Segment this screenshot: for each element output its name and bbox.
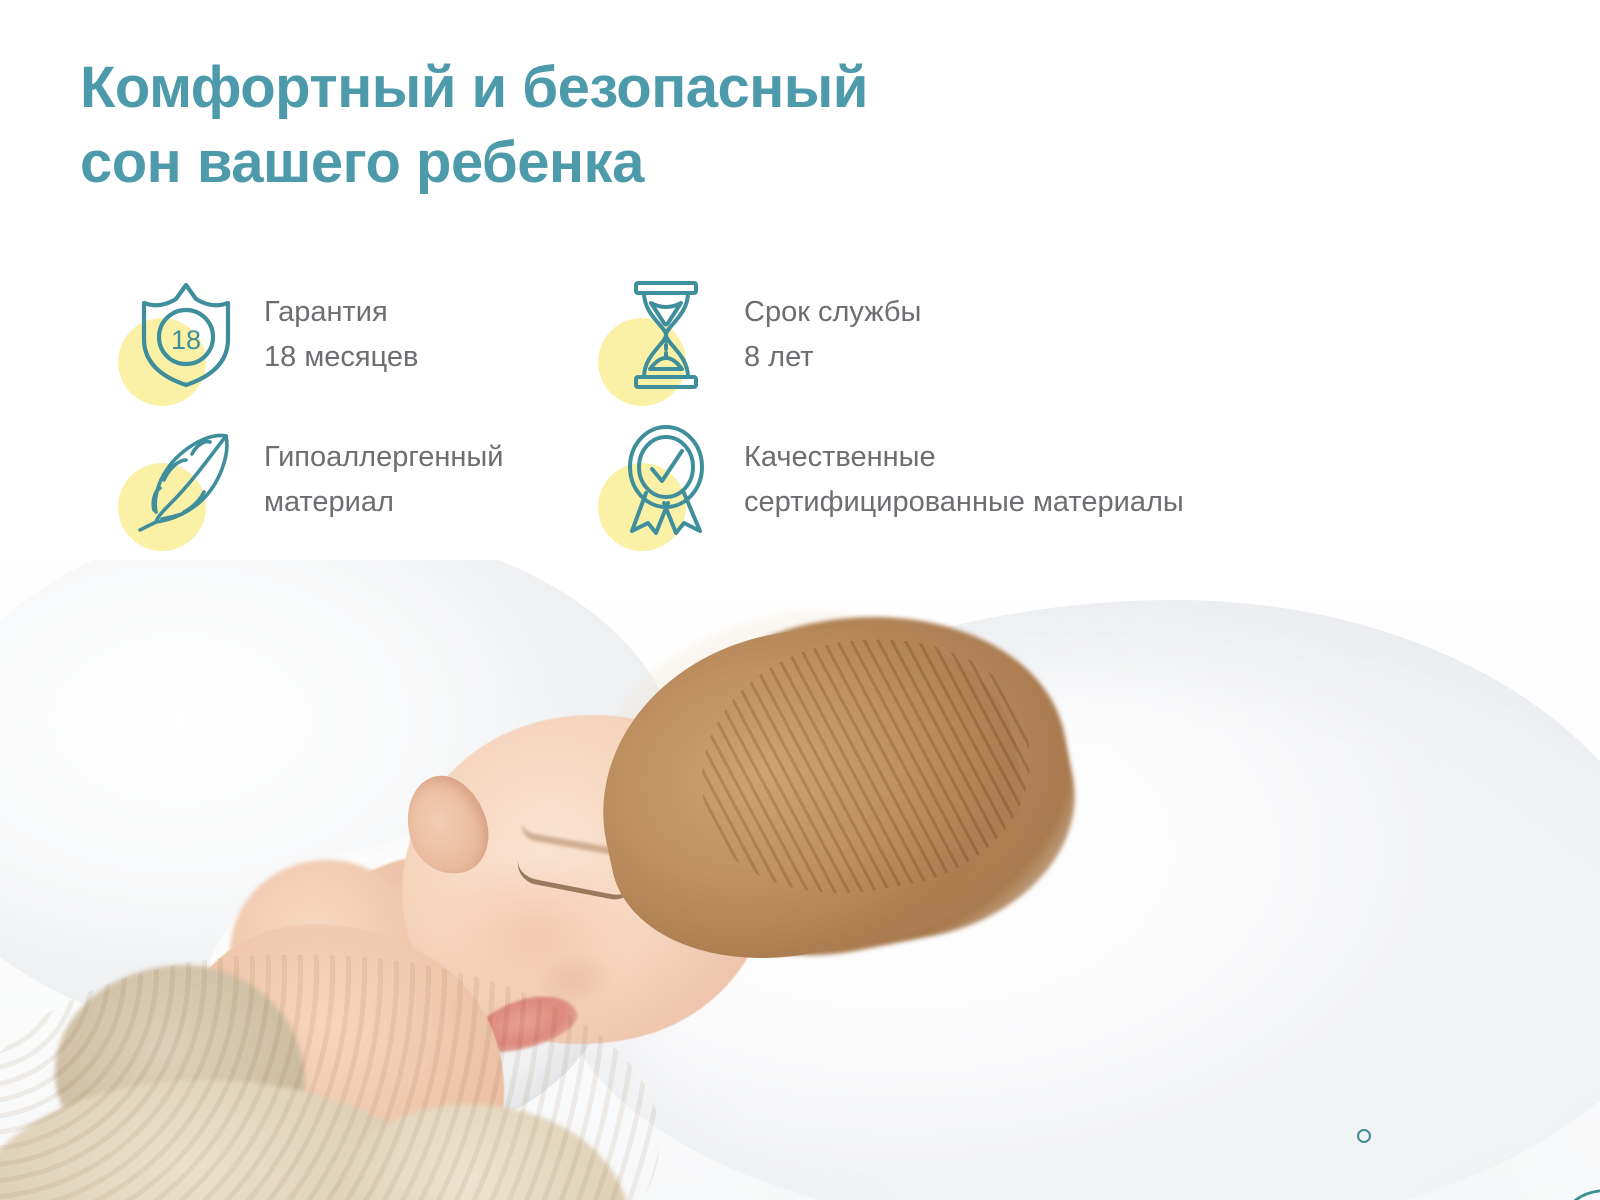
feature-label-lifespan-line-1: Срок службы bbox=[744, 296, 921, 328]
feature-label-certified-line-2: сертифицированные материалы bbox=[744, 480, 1184, 524]
feature-label-warranty-line-1: Гарантия bbox=[264, 296, 388, 328]
hero-photo: Спящий ребенок на белой подушке с плюшев… bbox=[0, 560, 1600, 1200]
feature-label-certified: Качественные сертифицированные материалы bbox=[744, 435, 1184, 523]
page-title-line-2: сон вашего ребенка bbox=[80, 125, 1180, 200]
award-ribbon-icon bbox=[610, 417, 722, 543]
promo-banner: Комфортный и безопасный сон вашего ребен… bbox=[0, 0, 1600, 1200]
feature-label-hypoallergenic: Гипоаллергенный материал bbox=[264, 435, 503, 523]
feature-label-lifespan-line-2: 8 лет bbox=[744, 335, 921, 379]
feature-label-warranty-line-2: 18 месяцев bbox=[264, 335, 418, 379]
shield-18-icon: 18 bbox=[130, 272, 242, 398]
feature-item-warranty: 18 Гарантия 18 месяцев bbox=[130, 262, 610, 407]
animal-pattern-alt: Детский рисованный узор с животными: льв… bbox=[0, 560, 1, 561]
doodle-circle-teal-5 bbox=[1356, 1128, 1372, 1144]
feature-label-lifespan: Срок службы 8 лет bbox=[744, 290, 921, 378]
feature-label-hypoallergenic-line-1: Гипоаллергенный bbox=[264, 441, 503, 473]
feature-item-certified: Качественные сертифицированные материалы bbox=[610, 407, 1370, 552]
feature-label-certified-line-1: Качественные bbox=[744, 441, 936, 473]
page-title: Комфортный и безопасный сон вашего ребен… bbox=[80, 50, 1180, 201]
warranty-months-number: 18 bbox=[171, 325, 201, 355]
hourglass-icon bbox=[610, 272, 722, 398]
feature-item-lifespan: Срок службы 8 лет bbox=[610, 262, 1370, 407]
page-title-line-1: Комфортный и безопасный bbox=[80, 50, 1180, 125]
feather-icon bbox=[130, 417, 242, 543]
doodle-arc-teal bbox=[1545, 1185, 1600, 1200]
feature-list: 18 Гарантия 18 месяцев bbox=[130, 262, 1420, 552]
feature-label-hypoallergenic-line-2: материал bbox=[264, 480, 503, 524]
feature-item-hypoallergenic: Гипоаллергенный материал bbox=[130, 407, 610, 552]
feature-label-warranty: Гарантия 18 месяцев bbox=[264, 290, 418, 378]
